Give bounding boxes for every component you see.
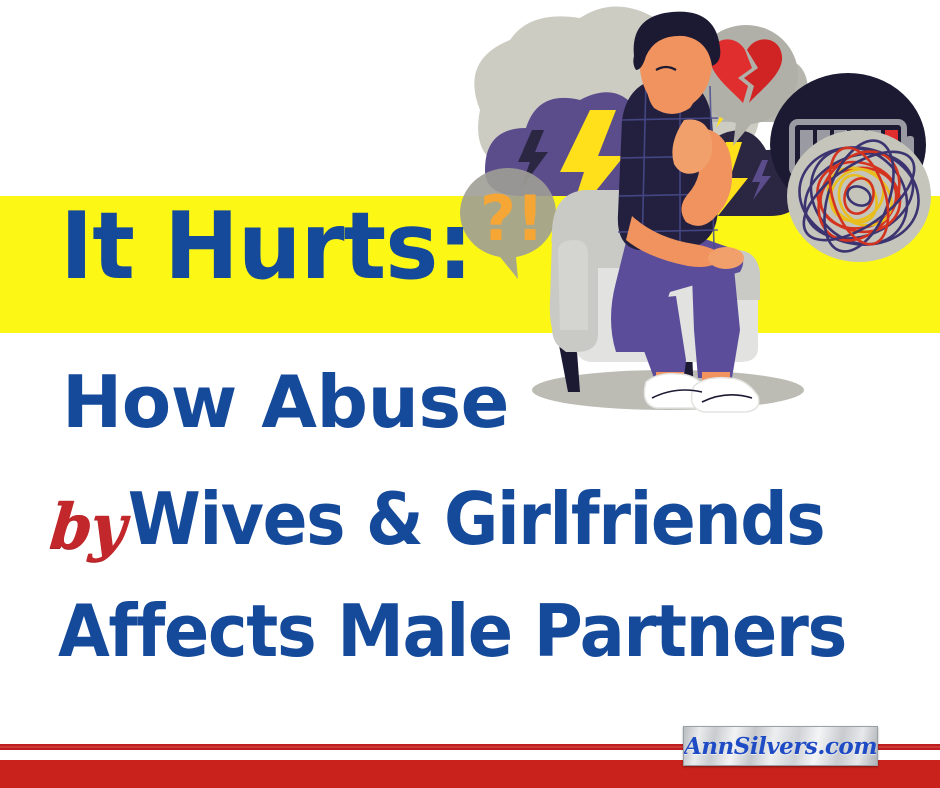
headline-line-3: byWives & Girlfriends xyxy=(52,483,824,555)
brand-logo-plaque[interactable]: AnnSilvers.com xyxy=(683,726,878,766)
hand-left xyxy=(708,247,744,269)
headline-line-2: How Abuse xyxy=(62,366,509,438)
headline-line-1: It Hurts: xyxy=(60,200,472,293)
brand-logo-text: AnnSilvers.com xyxy=(684,733,877,760)
headline-line-4: Affects Male Partners xyxy=(58,595,846,667)
poster-canvas: ?! xyxy=(0,0,940,788)
pant-leg-right xyxy=(692,268,740,378)
headline-script-by: by xyxy=(47,496,127,558)
illustration-graphic: ?! xyxy=(440,0,940,420)
headline-line-3-main: Wives & Girlfriends xyxy=(128,477,825,561)
question-exclamation-label: ?! xyxy=(480,182,544,255)
